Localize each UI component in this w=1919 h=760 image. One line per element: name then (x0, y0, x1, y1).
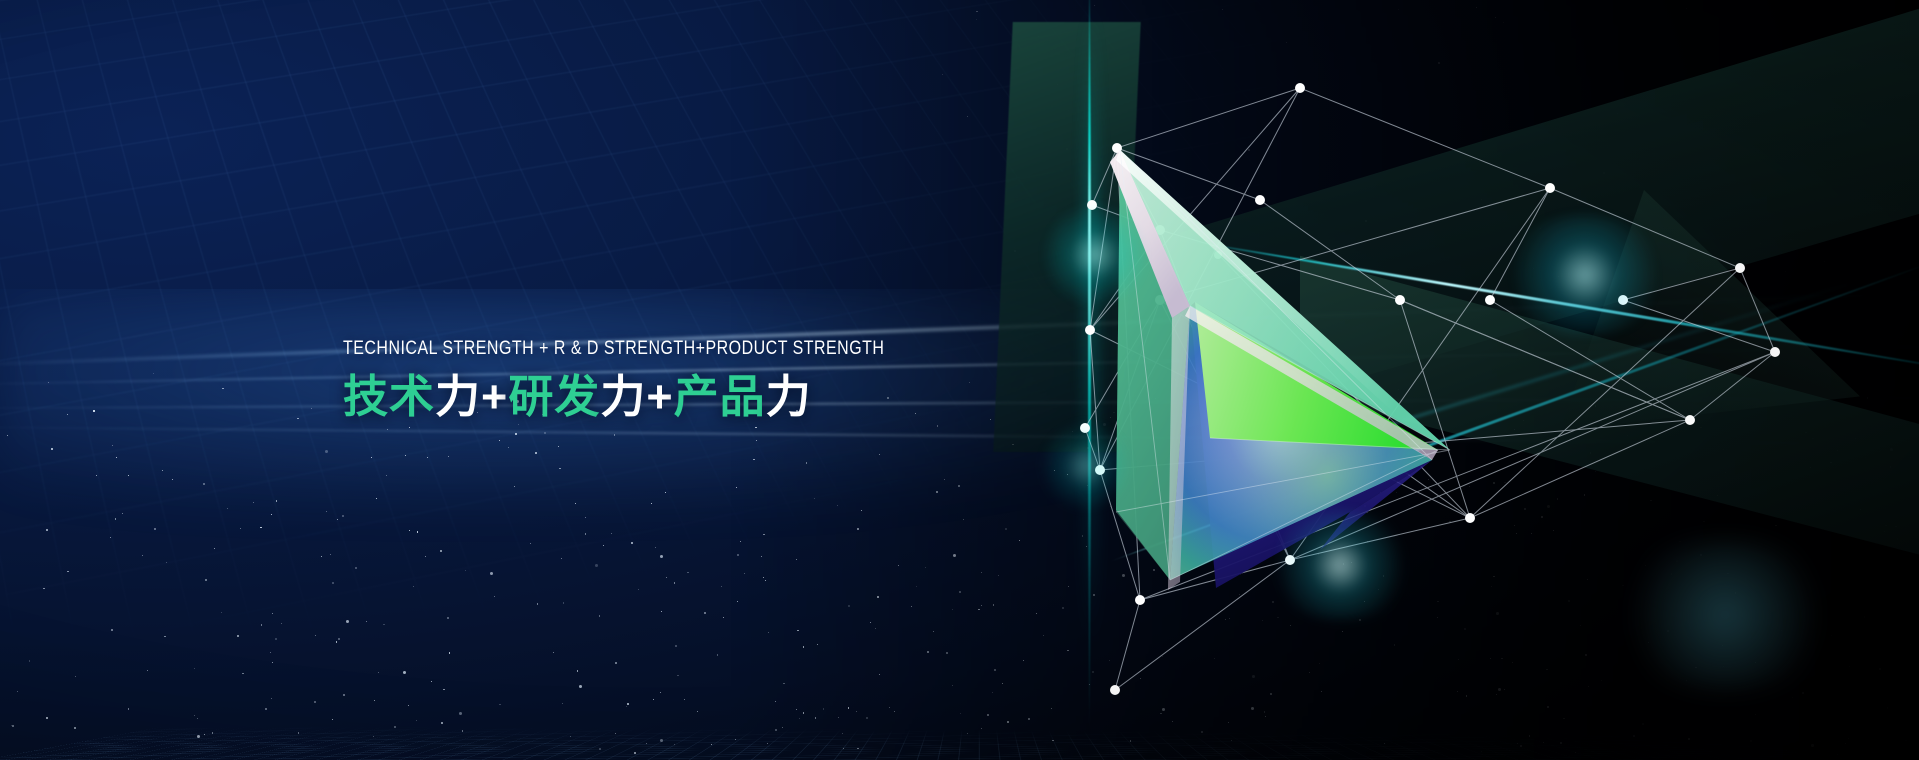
right-side-darkening (0, 0, 1919, 760)
hero-banner: TECHNICAL STRENGTH + R & D STRENGTH+PROD… (0, 0, 1919, 760)
